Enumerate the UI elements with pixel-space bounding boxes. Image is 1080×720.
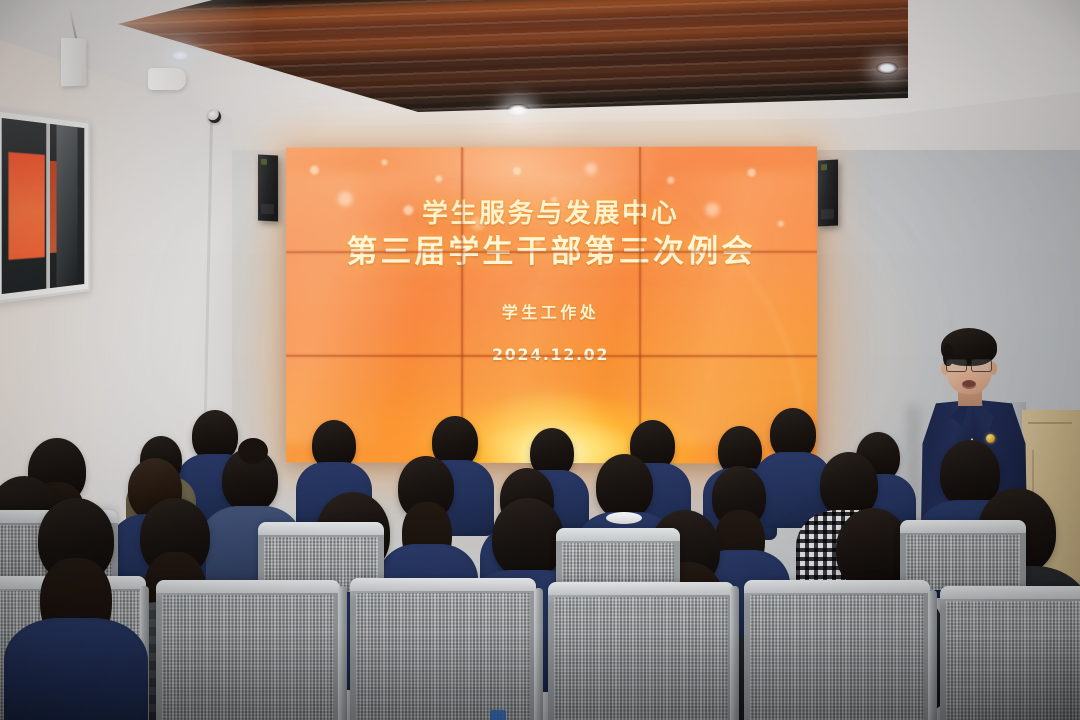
security-camera-icon xyxy=(208,110,221,123)
person-head xyxy=(836,508,910,590)
ceiling-downlight-icon xyxy=(170,50,190,61)
seated-audience xyxy=(0,380,1080,720)
window xyxy=(0,108,90,304)
window-mullion xyxy=(46,123,50,288)
floor-shadow xyxy=(0,630,1080,720)
wall-mounted-ac-unit xyxy=(61,38,87,87)
led-panel-seam-horizontal xyxy=(286,355,817,357)
person-head xyxy=(492,498,564,578)
led-panel-seam-horizontal xyxy=(286,251,817,253)
window-poster xyxy=(8,152,44,260)
person-head xyxy=(596,454,653,519)
photo-scene: 学生服务与发展中心 第三届学生干部第三次例会 学生工作处 2024.12.02 xyxy=(0,0,1080,720)
person-hair-bun xyxy=(238,438,268,464)
slide-organization: 学生工作处 xyxy=(502,299,600,323)
window-pane xyxy=(2,118,85,294)
wall-speaker-right xyxy=(818,159,838,226)
person-collar xyxy=(606,512,642,524)
window-glare xyxy=(57,125,78,288)
wall-speaker-left xyxy=(258,154,278,221)
ceiling-projector-mount xyxy=(148,68,186,90)
eyeglasses-icon xyxy=(945,359,993,371)
ceiling-downlight-icon xyxy=(876,62,898,74)
